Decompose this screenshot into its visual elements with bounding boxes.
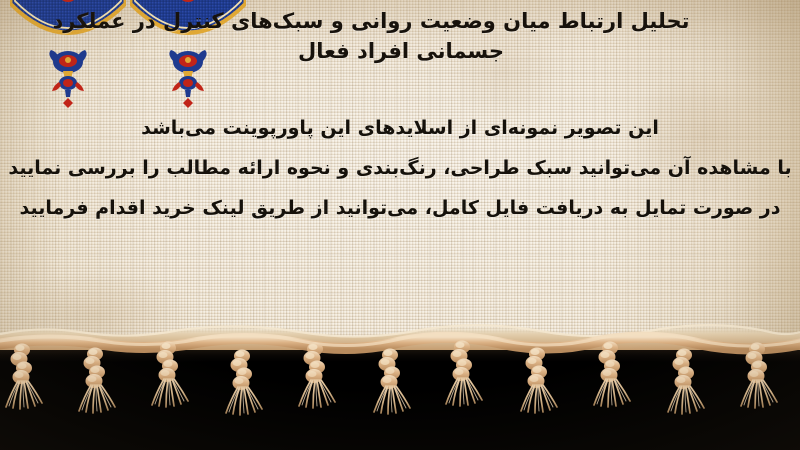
slide-title-line-1: تحلیل ارتباط میان وضعیت روانی و سبک‌های … <box>16 6 786 36</box>
slide-body: این تصویر نمونه‌ای از اسلایدهای این پاور… <box>0 108 800 228</box>
slide-body-line-3: در صورت تمایل به دریافت فایل کامل، می‌تو… <box>0 188 800 228</box>
slide-title-line-2: جسمانی افراد فعال <box>16 36 786 66</box>
slide-body-line-1: این تصویر نمونه‌ای از اسلایدهای این پاور… <box>0 108 800 148</box>
slide-body-line-2: با مشاهده آن می‌توانید سبک طراحی، رنگ‌بن… <box>0 148 800 188</box>
slide-canvas: تحلیل ارتباط میان وضعیت روانی و سبک‌های … <box>0 0 800 450</box>
carpet-fringe-tassels <box>0 320 800 450</box>
slide-title: تحلیل ارتباط میان وضعیت روانی و سبک‌های … <box>16 6 786 66</box>
